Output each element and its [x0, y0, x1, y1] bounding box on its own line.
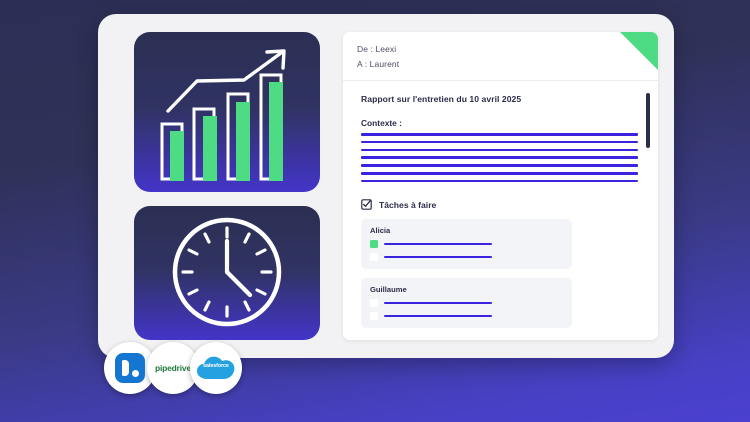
document-scrollbar-thumb[interactable]: [646, 93, 650, 148]
task-owner-name: Guillaume: [370, 285, 563, 294]
recipient-line: A : Laurent: [357, 57, 644, 72]
corner-flag-icon: [620, 32, 658, 70]
task-placeholder-line: [384, 315, 492, 317]
task-row[interactable]: [370, 312, 563, 320]
placeholder-line: [361, 180, 638, 183]
tasks-heading-row: Tâches à faire: [361, 199, 638, 210]
integration-logo-salesforce: salesforce: [190, 342, 242, 394]
task-checkbox-checked[interactable]: [370, 240, 378, 248]
context-heading: Contexte :: [361, 118, 638, 128]
document-panel: De : Leexi A : Laurent Rapport sur l'ent…: [343, 32, 658, 340]
left-media-column: [134, 32, 320, 340]
promo-graphic-stage: De : Leexi A : Laurent Rapport sur l'ent…: [0, 0, 750, 422]
page-title: Rapport sur l'entretien du 10 avril 2025: [361, 94, 638, 104]
clock-card: [134, 206, 320, 340]
task-owner-name: Alicia: [370, 226, 563, 235]
task-checkbox-unchecked[interactable]: [370, 253, 378, 261]
placeholder-line: [361, 164, 638, 167]
placeholder-line: [361, 156, 638, 159]
task-checkbox-unchecked[interactable]: [370, 299, 378, 307]
sender-line: De : Leexi: [357, 42, 644, 57]
task-row[interactable]: [370, 299, 563, 307]
task-row[interactable]: [370, 253, 563, 261]
document-header: De : Leexi A : Laurent: [343, 32, 658, 81]
bar-chart-card: [134, 32, 320, 192]
placeholder-line: [361, 172, 638, 175]
context-placeholder-lines: [361, 133, 638, 182]
salesforce-cloud-icon: salesforce: [196, 355, 236, 381]
integration-logos: pipedrive salesforce: [104, 342, 242, 394]
clock-icon: [134, 206, 320, 340]
placeholder-line: [361, 149, 638, 152]
checkbox-checked-icon: [361, 199, 372, 210]
placeholder-line: [361, 133, 638, 136]
task-placeholder-line: [384, 243, 492, 245]
document-body: Rapport sur l'entretien du 10 avril 2025…: [343, 81, 658, 338]
task-checkbox-unchecked[interactable]: [370, 312, 378, 320]
tasks-heading-label: Tâches à faire: [379, 200, 436, 210]
task-placeholder-line: [384, 256, 492, 258]
bar-chart-growth-icon: [134, 32, 320, 192]
ringover-logo-icon: [115, 353, 145, 383]
placeholder-line: [361, 141, 638, 144]
salesforce-wordmark: salesforce: [196, 363, 236, 369]
task-placeholder-line: [384, 302, 492, 304]
task-card[interactable]: Alicia: [361, 219, 572, 269]
task-card[interactable]: Guillaume: [361, 278, 572, 328]
pipedrive-logo-icon: pipedrive: [155, 363, 191, 373]
task-row[interactable]: [370, 240, 563, 248]
